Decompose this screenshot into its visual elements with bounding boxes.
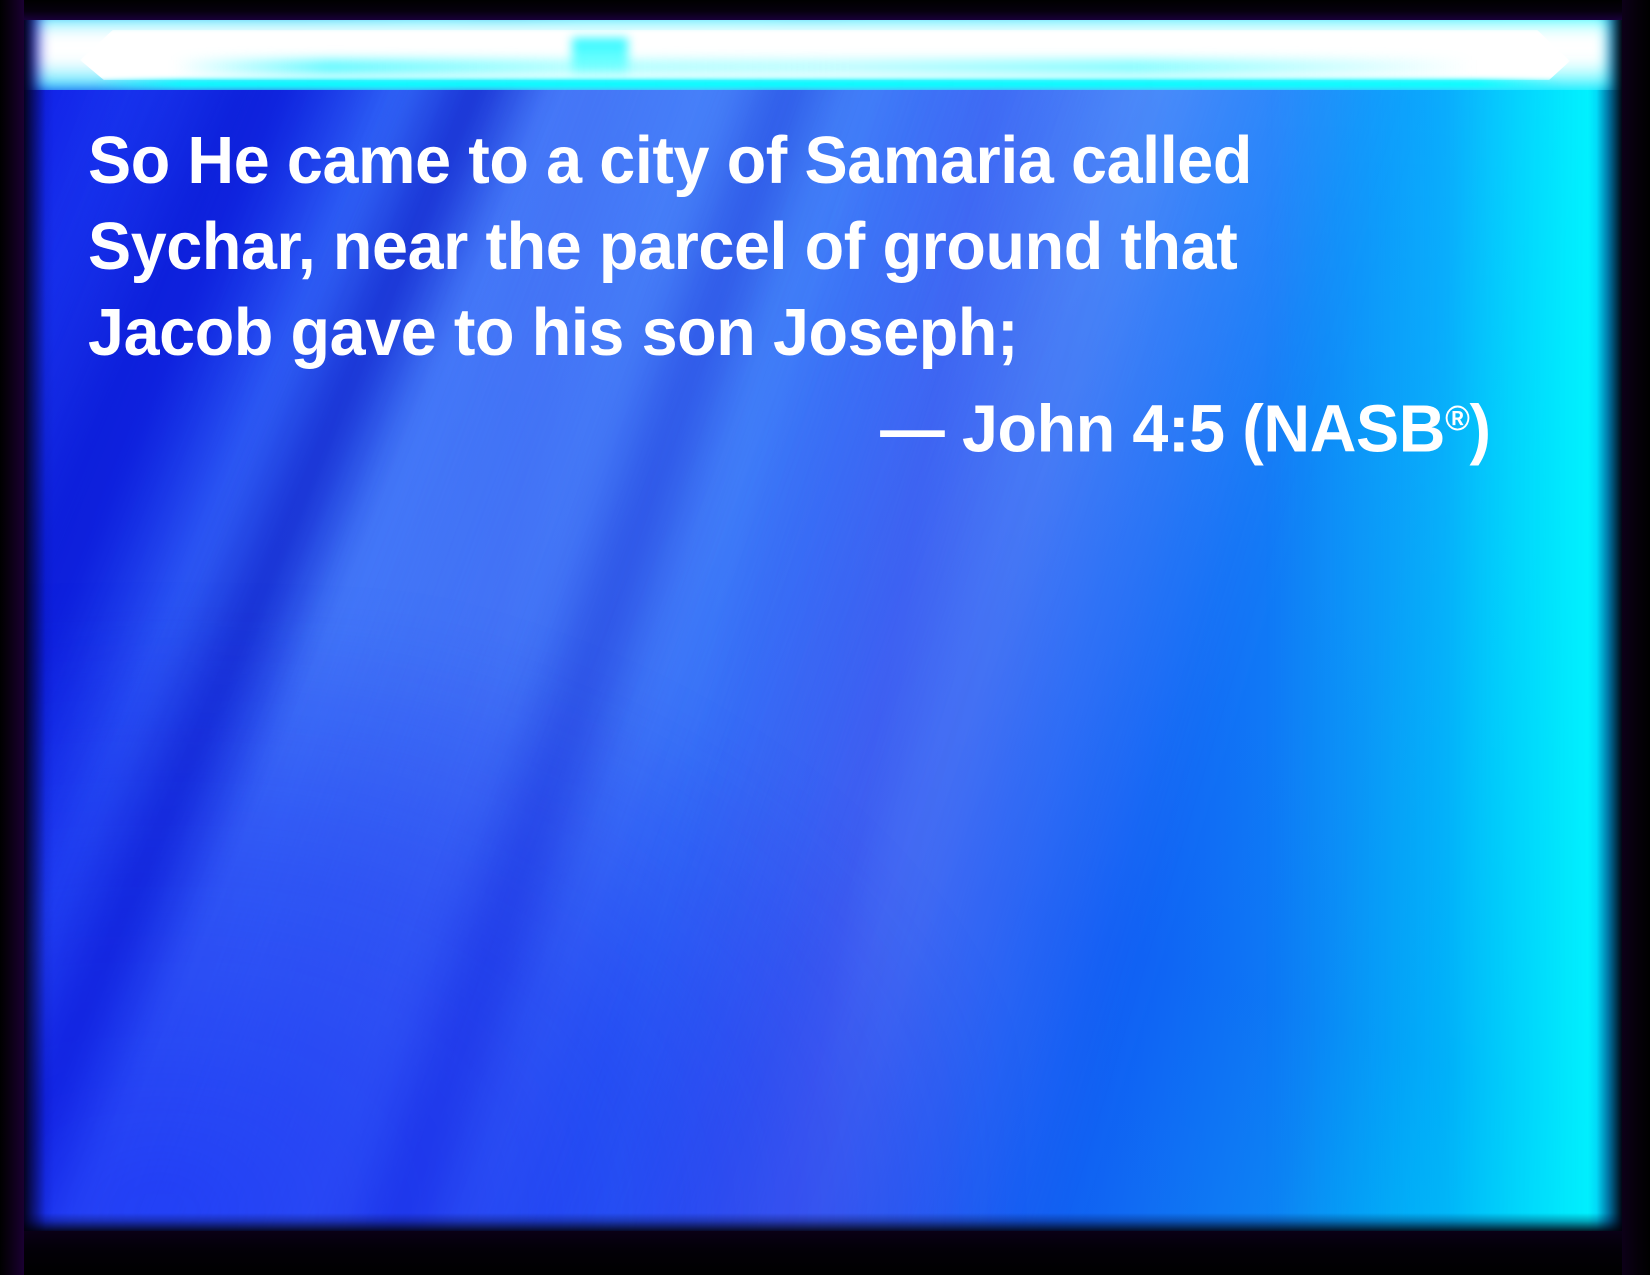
frame-border-top: [0, 0, 1650, 20]
verse-attribution: — John 4:5 (NASB®): [138, 376, 1508, 473]
verse-line-1: So He came to a city of Samaria called: [88, 118, 1458, 204]
frame-border-right: [1622, 0, 1650, 1275]
registered-trademark-icon: ®: [1445, 399, 1469, 438]
bottom-edge-falloff: [24, 1213, 1622, 1231]
right-edge-falloff: [1588, 20, 1622, 1231]
lower-left-blue-pool: [24, 626, 983, 1232]
attribution-prefix: — John 4:5 (NASB: [880, 392, 1445, 467]
left-edge-falloff: [24, 20, 54, 1231]
attribution-suffix: ): [1469, 392, 1490, 467]
bible-verse-slide: So He came to a city of Samaria called S…: [0, 0, 1650, 1275]
verse-text-block: So He came to a city of Samaria called S…: [88, 118, 1508, 473]
frame-border-left: [0, 0, 24, 1275]
frame-border-bottom: [0, 1231, 1650, 1275]
verse-line-3: Jacob gave to his son Joseph;: [88, 290, 1458, 376]
verse-line-2: Sychar, near the parcel of ground that: [88, 204, 1458, 290]
